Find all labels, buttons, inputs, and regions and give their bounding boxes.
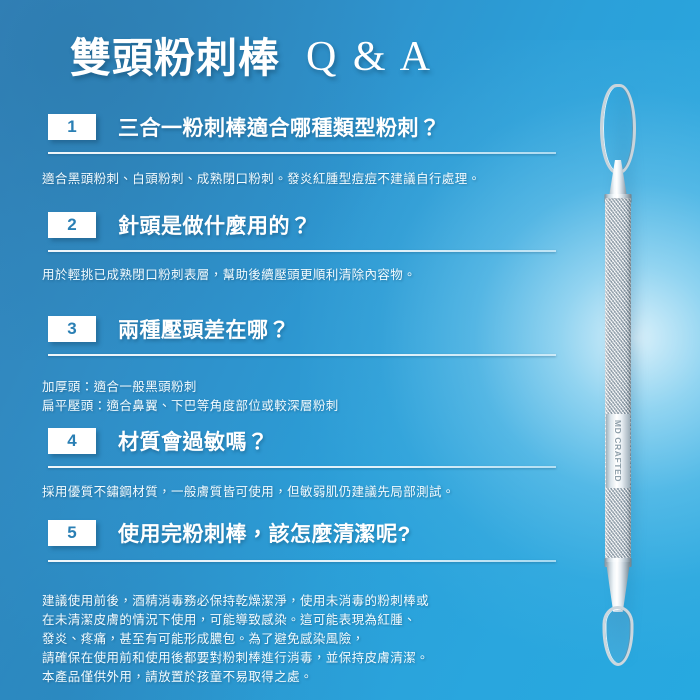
product-engraving-text: MD CRAFTED — [613, 420, 623, 482]
question-row-3: 3 兩種壓頭差在哪？ — [48, 314, 290, 344]
question-text-5: 使用完粉刺棒，該怎麼清潔呢? — [118, 518, 411, 548]
answer-text-2: 用於輕挑已成熟閉口粉刺表層，幫助後續壓頭更順利清除內容物。 — [42, 266, 562, 285]
page-header: 雙頭粉刺棒 Q & A — [70, 36, 433, 79]
question-text-1: 三合一粉刺棒適合哪種類型粉刺？ — [118, 112, 441, 142]
question-row-5: 5 使用完粉刺棒，該怎麼清潔呢? — [48, 518, 411, 548]
product-image-blackhead-extractor: MD CRAFTED — [596, 84, 640, 664]
page-title: 雙頭粉刺棒 — [70, 38, 280, 79]
divider-2 — [48, 250, 556, 252]
content-layer: 雙頭粉刺棒 Q & A 1 三合一粉刺棒適合哪種類型粉刺？ 適合黑頭粉刺、白頭粉… — [0, 0, 700, 700]
loop-head-bottom-inner — [607, 610, 630, 662]
qa-label: Q & A — [306, 36, 433, 79]
question-text-4: 材質會過敏嗎？ — [118, 426, 269, 456]
question-row-2: 2 針頭是做什麼用的？ — [48, 210, 312, 240]
infographic-page: 雙頭粉刺棒 Q & A 1 三合一粉刺棒適合哪種類型粉刺？ 適合黑頭粉刺、白頭粉… — [0, 0, 700, 700]
divider-5 — [48, 560, 556, 562]
question-number-badge-5: 5 — [48, 520, 96, 546]
answer-text-5: 建議使用前後，酒精消毒務必保持乾燥潔淨，使用未消毒的粉刺棒或 在未清潔皮膚的情況… — [42, 592, 562, 687]
question-text-3: 兩種壓頭差在哪？ — [118, 314, 290, 344]
question-row-1: 1 三合一粉刺棒適合哪種類型粉刺？ — [48, 112, 441, 142]
product-engraving-plate: MD CRAFTED — [606, 414, 630, 488]
question-number-badge-1: 1 — [48, 114, 96, 140]
question-number-badge-3: 3 — [48, 316, 96, 342]
answer-text-1: 適合黑頭粉刺、白頭粉刺、成熟閉口粉刺。發炎紅腫型痘痘不建議自行處理。 — [42, 170, 562, 189]
product-knurled-handle — [605, 198, 631, 564]
question-number-badge-4: 4 — [48, 428, 96, 454]
answer-text-3: 加厚頭：適合一般黑頭粉刺 扁平壓頭：適合鼻翼、下巴等角度部位或較深層粉刺 — [42, 378, 562, 416]
divider-1 — [48, 152, 556, 154]
question-number-badge-2: 2 — [48, 212, 96, 238]
answer-text-4: 採用優質不鏽鋼材質，一般膚質皆可使用，但敏弱肌仍建議先局部測試。 — [42, 483, 562, 502]
divider-3 — [48, 354, 556, 356]
divider-4 — [48, 466, 556, 468]
question-text-2: 針頭是做什麼用的？ — [118, 210, 312, 240]
question-row-4: 4 材質會過敏嗎？ — [48, 426, 269, 456]
